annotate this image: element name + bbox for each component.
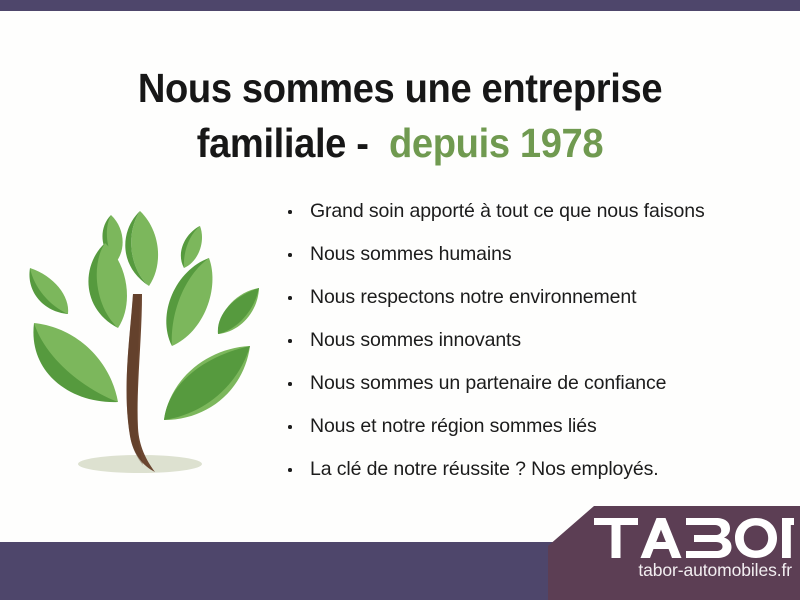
list-item: Nous sommes un partenaire de confiance: [286, 362, 766, 405]
page-title: Nous sommes une entreprise familiale - d…: [28, 61, 772, 171]
leaf: [33, 323, 118, 402]
list-item: Nous sommes innovants: [286, 319, 766, 362]
headline-accent: depuis 1978: [389, 120, 603, 166]
bullet-dot-icon: [288, 339, 292, 343]
bullet-dot-icon: [288, 296, 292, 300]
bullet-dot-icon: [288, 253, 292, 257]
leaf: [125, 211, 158, 286]
list-item-label: Nous et notre région sommes liés: [310, 415, 597, 437]
top-brand-bar: [0, 0, 800, 11]
list-item-label: Nous respectons notre environnement: [310, 286, 636, 308]
slide-canvas: Nous sommes une entreprise familiale - d…: [0, 0, 800, 600]
leaf: [218, 288, 259, 334]
leaf: [164, 346, 250, 420]
list-item-label: La clé de notre réussite ? Nos employés.: [310, 458, 659, 480]
headline-line-2: familiale -: [197, 120, 389, 166]
list-item: Nous et notre région sommes liés: [286, 405, 766, 448]
bullet-dot-icon: [288, 382, 292, 386]
list-item-label: Grand soin apporté à tout ce que nous fa…: [310, 200, 705, 222]
list-item-label: Nous sommes innovants: [310, 329, 521, 351]
bullet-dot-icon: [288, 425, 292, 429]
brand-url: tabor-automobiles.fr: [548, 560, 800, 581]
leaf: [181, 226, 202, 268]
list-item-label: Nous sommes un partenaire de confiance: [310, 372, 666, 394]
leaf: [29, 268, 68, 314]
tree-icon: [12, 188, 274, 488]
leaf: [166, 258, 212, 346]
list-item: La clé de notre réussite ? Nos employés.: [286, 448, 766, 491]
bullet-dot-icon: [288, 210, 292, 214]
value-proposition-list: Grand soin apporté à tout ce que nous fa…: [286, 190, 766, 491]
list-item: Nous sommes humains: [286, 233, 766, 276]
bullet-dot-icon: [288, 468, 292, 472]
list-item: Nous respectons notre environnement: [286, 276, 766, 319]
list-item-label: Nous sommes humains: [310, 243, 511, 265]
tabor-wordmark-icon: [594, 518, 794, 558]
leaf: [88, 243, 127, 328]
headline-line-1: Nous sommes une entreprise: [138, 65, 662, 111]
brand-logo-panel: tabor-automobiles.fr: [548, 506, 800, 600]
list-item: Grand soin apporté à tout ce que nous fa…: [286, 190, 766, 233]
